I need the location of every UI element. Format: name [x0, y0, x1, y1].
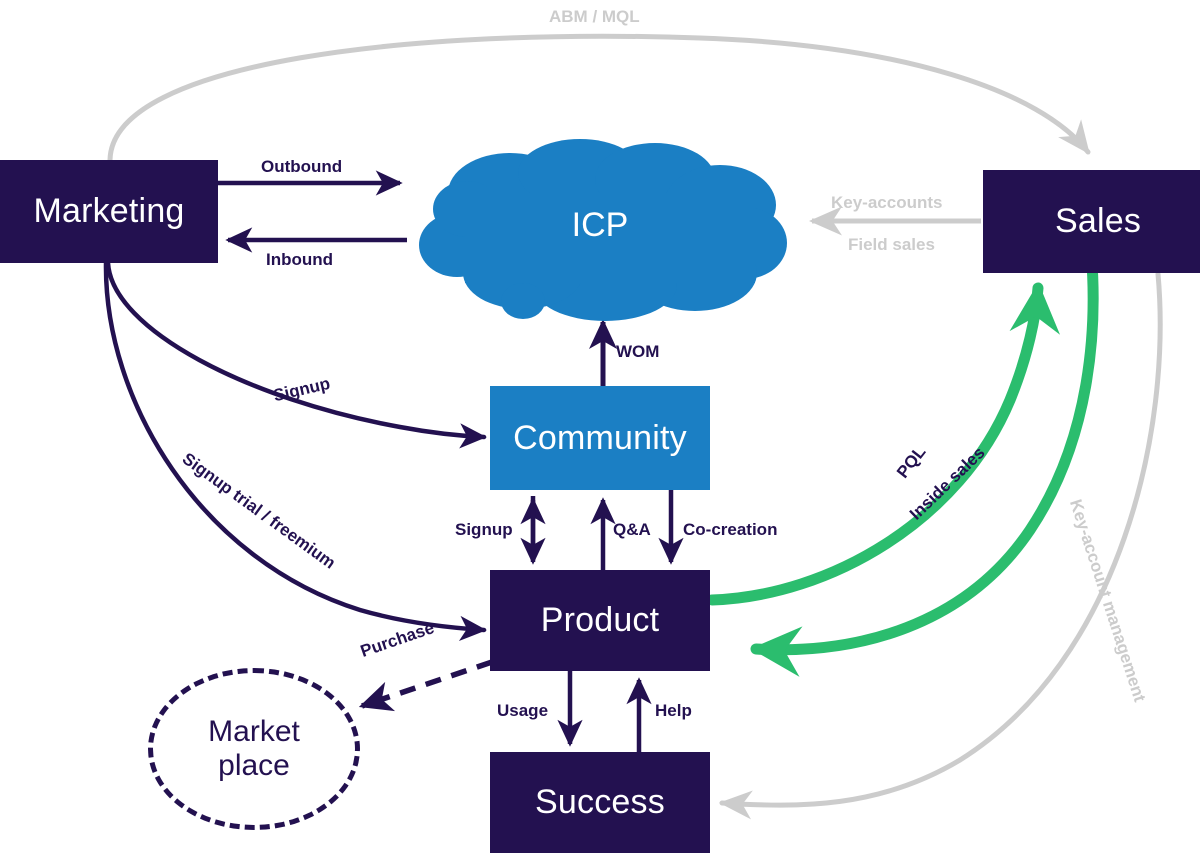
node-community-label: Community: [513, 419, 687, 458]
edge-pql: [712, 288, 1038, 600]
node-icp-label: ICP: [572, 206, 629, 245]
node-product[interactable]: Product: [490, 570, 710, 671]
edge-label-qa: Q&A: [613, 520, 651, 540]
node-sales-label: Sales: [1055, 202, 1141, 241]
edge-label-help: Help: [655, 701, 692, 721]
edge-purchase: [362, 662, 492, 706]
node-success[interactable]: Success: [490, 752, 710, 853]
edge-label-signup-product-community: Signup: [455, 520, 513, 540]
node-icp[interactable]: ICP: [405, 133, 795, 323]
node-community[interactable]: Community: [490, 386, 710, 490]
edge-label-outbound: Outbound: [261, 157, 342, 177]
node-marketplace[interactable]: Market place: [148, 668, 360, 830]
node-marketing[interactable]: Marketing: [0, 160, 218, 263]
node-marketplace-label-line1: Market: [208, 715, 300, 748]
edge-label-usage: Usage: [497, 701, 548, 721]
node-marketplace-label-line2: place: [218, 749, 290, 782]
edge-label-key-accounts: Key-accounts: [831, 193, 942, 213]
edge-label-inbound: Inbound: [266, 250, 333, 270]
node-sales[interactable]: Sales: [983, 170, 1200, 273]
node-success-label: Success: [535, 783, 665, 822]
diagram-canvas: ICP Marketing Sales Community Product Su…: [0, 0, 1200, 853]
node-product-label: Product: [541, 601, 660, 640]
node-marketing-label: Marketing: [33, 192, 184, 231]
edge-label-wom: WOM: [616, 342, 659, 362]
edge-label-field-sales: Field sales: [848, 235, 935, 255]
edge-label-co-creation: Co-creation: [683, 520, 777, 540]
node-marketplace-label: Market place: [208, 715, 300, 782]
edge-label-abm-mql: ABM / MQL: [549, 7, 640, 27]
